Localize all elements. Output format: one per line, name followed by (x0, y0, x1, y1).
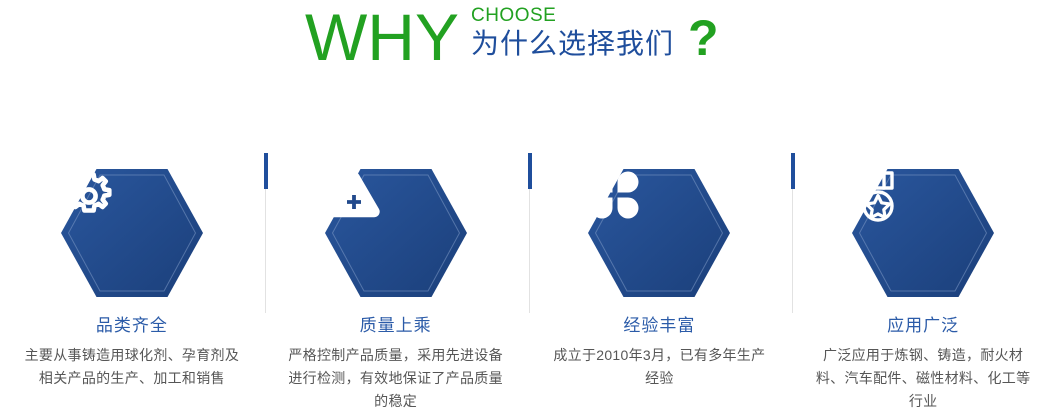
hexagon-badge (852, 168, 994, 298)
card-description: 主要从事铸造用球化剂、孕育剂及相关产品的生产、加工和销售 (23, 344, 241, 390)
clover-icon (588, 168, 730, 298)
feature-card[interactable]: 质量上乘 严格控制产品质量，采用先进设备进行检测，有效地保证了产品质量的稳定 (264, 150, 528, 416)
hexagon-badge (325, 168, 467, 298)
feature-card[interactable]: 经验丰富 成立于2010年3月，已有多年生产经验 (528, 150, 792, 416)
hexagon-badge (588, 168, 730, 298)
triangle-plus-icon (325, 168, 467, 298)
header-chinese-title: 为什么选择我们 (471, 27, 674, 61)
section-header: WHY CHOOSE 为什么选择我们 ? (0, 0, 1055, 95)
header-choose-word: CHOOSE (471, 5, 674, 27)
feature-cards-row: 品类齐全 主要从事铸造用球化剂、孕育剂及相关产品的生产、加工和销售 (0, 150, 1055, 416)
card-divider (528, 153, 532, 313)
card-title: 经验丰富 (623, 316, 695, 336)
card-divider (791, 153, 795, 313)
divider-accent-segment (791, 153, 795, 189)
divider-line-segment (265, 189, 266, 313)
divider-accent-segment (528, 153, 532, 189)
card-divider (264, 153, 268, 313)
gear-icon (61, 168, 203, 298)
card-title: 应用广泛 (887, 316, 959, 336)
divider-line-segment (792, 189, 793, 313)
header-title-group: WHY CHOOSE 为什么选择我们 ? (305, 2, 719, 72)
divider-accent-segment (264, 153, 268, 189)
divider-line-segment (529, 189, 530, 313)
header-subtitle-stack: CHOOSE 为什么选择我们 (471, 2, 674, 61)
header-why-word: WHY (305, 2, 459, 72)
feature-card[interactable]: 应用广泛 广泛应用于炼钢、铸造，耐火材料、汽车配件、磁性材料、化工等行业 (791, 150, 1055, 416)
card-title: 质量上乘 (360, 316, 432, 336)
feature-card[interactable]: 品类齐全 主要从事铸造用球化剂、孕育剂及相关产品的生产、加工和销售 (0, 150, 264, 416)
card-title: 品类齐全 (96, 316, 168, 336)
card-description: 广泛应用于炼钢、铸造，耐火材料、汽车配件、磁性材料、化工等行业 (814, 344, 1032, 413)
hexagon-badge (61, 168, 203, 298)
header-question-mark: ? (688, 2, 719, 68)
card-description: 成立于2010年3月，已有多年生产经验 (550, 344, 768, 390)
card-description: 严格控制产品质量，采用先进设备进行检测，有效地保证了产品质量的稳定 (287, 344, 505, 413)
medal-icon (852, 168, 994, 298)
